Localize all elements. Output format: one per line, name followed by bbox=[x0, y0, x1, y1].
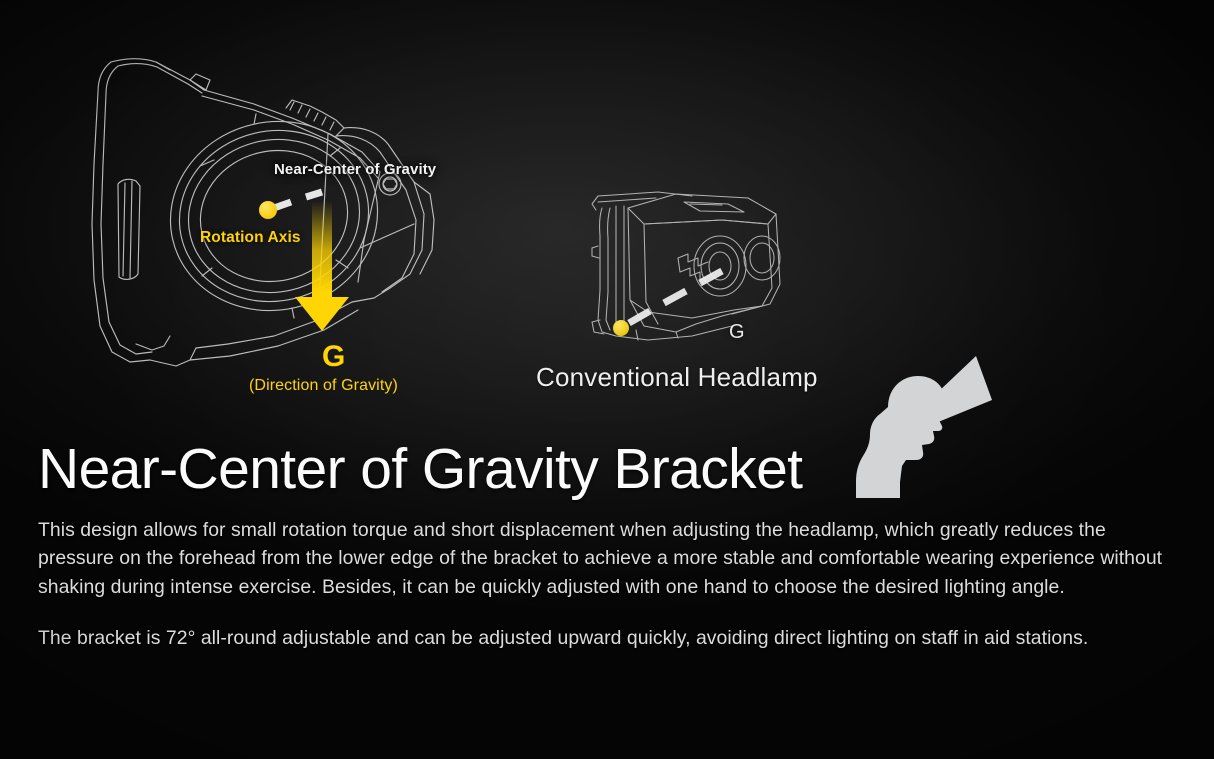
body-copy: This design allows for small rotation to… bbox=[38, 516, 1174, 653]
diagram-main-headlamp bbox=[78, 44, 488, 374]
product-feature-slide: Near-Center of Gravity Rotation Axis G (… bbox=[0, 0, 1214, 759]
label-direction-of-gravity: (Direction of Gravity) bbox=[249, 377, 398, 395]
page-title: Near-Center of Gravity Bracket bbox=[38, 441, 802, 498]
label-rotation-axis: Rotation Axis bbox=[200, 229, 301, 247]
rotation-axis-pin bbox=[613, 320, 629, 336]
conventional-headlamp-wireframe bbox=[572, 180, 808, 352]
label-near-center-of-gravity: Near-Center of Gravity bbox=[274, 161, 436, 178]
paragraph-2: The bracket is 72° all-round adjustable … bbox=[38, 624, 1174, 652]
paragraph-1: This design allows for small rotation to… bbox=[38, 516, 1174, 601]
headlamp-side-view-wireframe bbox=[78, 44, 488, 374]
label-g-conventional: G bbox=[729, 321, 745, 344]
label-g-main: G bbox=[322, 340, 346, 374]
diagram-conventional-headlamp bbox=[572, 180, 808, 352]
head-with-light-beam-icon bbox=[844, 352, 994, 500]
gravity-direction-arrow bbox=[295, 201, 349, 331]
rotation-axis-pin bbox=[259, 201, 277, 219]
caption-conventional-headlamp: Conventional Headlamp bbox=[536, 362, 818, 393]
